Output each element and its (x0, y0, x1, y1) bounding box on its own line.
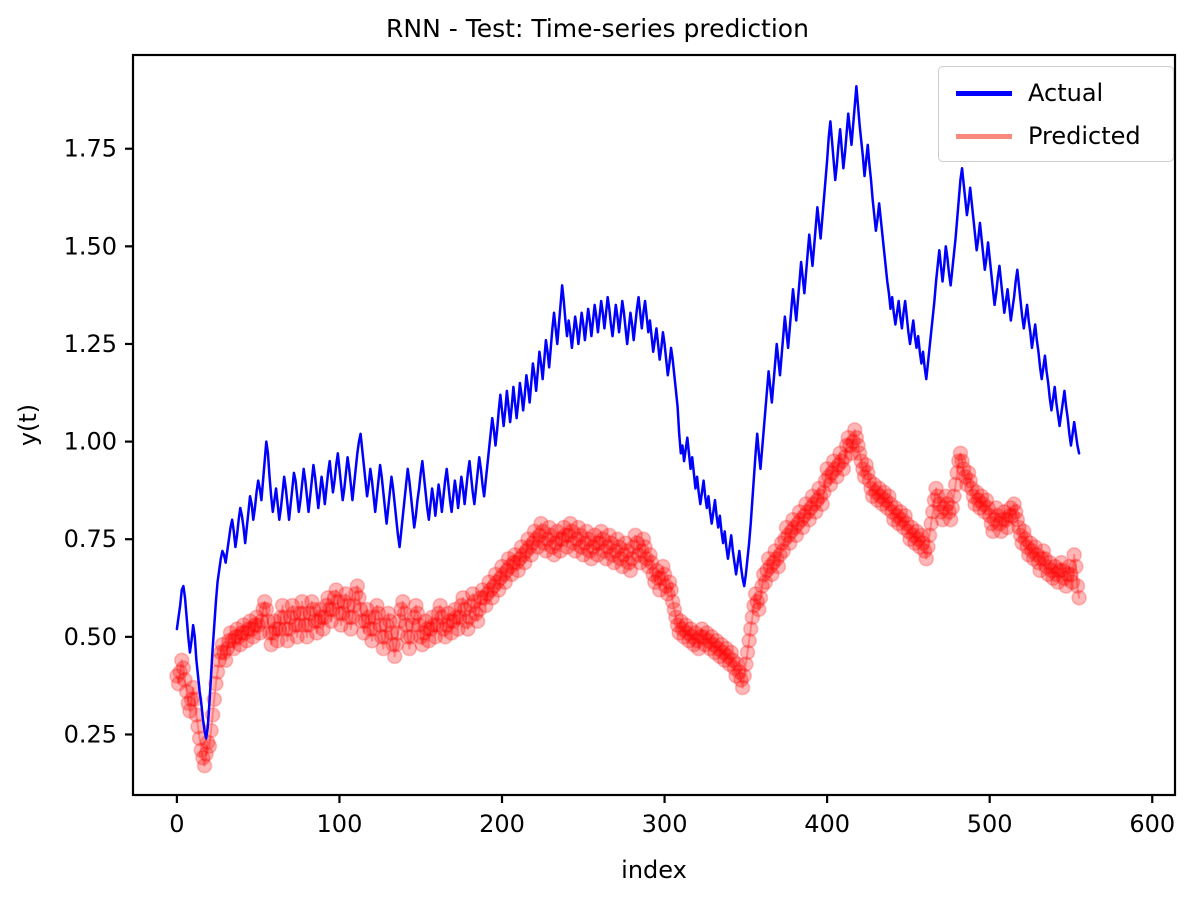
y-tick-label: 0.75 (64, 525, 117, 553)
x-tick-label: 600 (1129, 810, 1175, 838)
legend-swatch-actual (956, 91, 1012, 96)
legend-item-actual[interactable]: Actual (956, 81, 1103, 105)
y-tick-label: 1.50 (64, 232, 117, 260)
x-axis-label: index (621, 856, 687, 884)
axes-background (133, 55, 1175, 795)
y-tick-label: 0.25 (64, 720, 117, 748)
y-tick-label: 1.25 (64, 330, 117, 358)
x-tick-label: 100 (317, 810, 363, 838)
x-tick-label: 300 (642, 810, 688, 838)
x-tick-label: 400 (804, 810, 850, 838)
legend-swatch-predicted (956, 134, 1012, 139)
x-tick-label: 200 (479, 810, 525, 838)
x-tick-label: 0 (169, 810, 184, 838)
y-tick-label: 1.75 (64, 135, 117, 163)
legend-item-predicted[interactable]: Predicted (956, 124, 1141, 148)
y-axis-label: y(t) (14, 404, 42, 446)
y-tick-label: 1.00 (64, 428, 117, 456)
chart-figure: RNN - Test: Time-series prediction 01002… (0, 0, 1195, 898)
legend-label-actual: Actual (1028, 81, 1103, 105)
y-tick-label: 0.50 (64, 623, 117, 651)
x-tick-label: 500 (967, 810, 1013, 838)
legend-label-predicted: Predicted (1028, 124, 1141, 148)
chart-legend[interactable]: Actual Predicted (938, 66, 1174, 162)
